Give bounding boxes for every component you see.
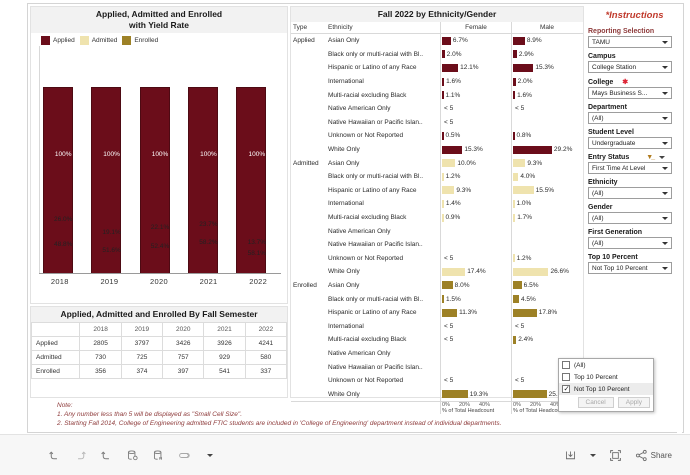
filter-label-text: Ethnicity [588, 179, 618, 186]
value-cell-female[interactable]: 1.4% [440, 197, 511, 211]
value-cell-female[interactable]: 2.0% [440, 48, 511, 62]
pause-auto-update-icon[interactable] [152, 449, 165, 462]
value-cell-male[interactable]: 15.3% [511, 61, 582, 75]
filter-label: Gender [588, 204, 683, 211]
row-type: Applied [291, 37, 326, 44]
label-applied: 100% [152, 151, 169, 158]
ethnicity-row[interactable]: Black only or multi-racial with Bl..1.5%… [291, 292, 583, 306]
value-label-female: 1.6% [446, 78, 461, 85]
value-cell-female[interactable]: 9.3% [440, 184, 511, 198]
ethnicity-row[interactable]: White Only19.3%25.2% [291, 387, 583, 401]
bar-group-2021[interactable]: 100%23.7%58.2% [184, 46, 232, 274]
value-cell-female [440, 360, 511, 374]
value-cell-male[interactable]: 4.5% [511, 292, 582, 306]
table-cell: 929 [204, 351, 245, 365]
value-bar-female [442, 186, 454, 194]
value-label-female: 2.0% [447, 51, 462, 58]
value-label-male: 1.0% [517, 200, 532, 207]
filter-label: Entry Status▼̲ [588, 154, 683, 161]
filter-label: Top 10 Percent [588, 254, 683, 261]
value-cell-female[interactable]: 11.3% [440, 306, 511, 320]
row-ethnicity: Native Hawaiian or Pacific Islan.. [326, 364, 440, 371]
chevron-down-icon [662, 192, 668, 195]
ethnicity-row[interactable]: International< 5< 5 [291, 319, 583, 333]
value-cell-female: < 5 [440, 374, 511, 388]
table-cell: 541 [204, 365, 245, 379]
chevron-down-icon [662, 117, 668, 120]
yield-rate-chart-panel: Applied, Admitted and Enrolled with Yiel… [30, 6, 288, 304]
instructions-link[interactable]: *Instructions [586, 6, 683, 23]
filter-select[interactable]: Mays Business S... [588, 87, 672, 99]
value-bar-female [442, 173, 444, 181]
filter-chevron-down-icon[interactable] [659, 156, 665, 159]
value-bar-male [513, 268, 548, 276]
fullscreen-icon[interactable] [609, 449, 622, 462]
ethnicity-row[interactable]: Unknown or Not Reported< 5< 5 [291, 374, 583, 388]
ethnicity-row[interactable]: AppliedAsian Only6.7%8.9% [291, 34, 583, 48]
filter-department: Department(All) [586, 104, 683, 124]
value-label-female: 1.1% [446, 92, 461, 99]
value-cell-male[interactable]: 1.0% [511, 197, 582, 211]
label-applied: 100% [249, 151, 266, 158]
filter-select[interactable]: Not Top 10 Percent [588, 262, 672, 274]
value-cell-male[interactable]: 29.2% [511, 143, 582, 157]
row-ethnicity: Native Hawaiian or Pacific Islan.. [326, 119, 440, 126]
value-label-male: 0.8% [517, 132, 532, 139]
col-header-male[interactable]: Male [511, 22, 582, 33]
ethnicity-row[interactable]: Multi-racial excluding Black1.1%1.6% [291, 88, 583, 102]
x-tick-2021: 2021 [184, 274, 234, 286]
row-ethnicity: Native Hawaiian or Pacific Islan.. [326, 241, 440, 248]
row-ethnicity: Asian Only [326, 37, 440, 44]
row-ethnicity: Hispanic or Latino of any Race [326, 309, 440, 316]
table-cell: 3426 [163, 337, 204, 351]
col-header-ethnicity[interactable]: Ethnicity [326, 22, 440, 33]
value-label-female: 17.4% [467, 268, 485, 275]
label-enrolled: 58.1% [248, 250, 266, 257]
ethnicity-row[interactable]: Native American Only [291, 224, 583, 238]
value-cell-male[interactable]: 2.9% [511, 48, 582, 62]
value-bar-female [442, 132, 444, 140]
value-cell-female[interactable]: 1.2% [440, 170, 511, 184]
ethnicity-row[interactable]: Black only or multi-racial with Bl..1.2%… [291, 170, 583, 184]
value-label-female: 19.3% [470, 391, 488, 398]
legend-item-applied[interactable]: Applied [41, 36, 75, 45]
value-bar-male [513, 91, 515, 99]
chevron-down-icon [662, 242, 668, 245]
value-label-male: 26.6% [550, 268, 568, 275]
row-ethnicity: Multi-racial excluding Black [326, 336, 440, 343]
ethnicity-gender-panel: Fall 2022 by Ethnicity/Gender Type Ethni… [290, 6, 584, 398]
value-cell-male[interactable]: 6.5% [511, 279, 582, 293]
value-cell-male[interactable]: 2.4% [511, 333, 582, 347]
filter-label-text: Campus [588, 53, 616, 60]
table-cell: 356 [80, 365, 121, 379]
row-ethnicity: Black only or multi-racial with Bl.. [326, 51, 440, 58]
value-bar-female [442, 146, 462, 154]
ethnicity-row[interactable]: Unknown or Not Reported< 51.2% [291, 252, 583, 266]
filter-select[interactable]: (All) [588, 112, 672, 124]
row-ethnicity: Black only or multi-racial with Bl.. [326, 296, 440, 303]
legend-label-applied: Applied [53, 37, 75, 44]
value-cell-male [511, 238, 582, 252]
filter-top-10-percent: Top 10 PercentNot Top 10 Percent [586, 254, 683, 274]
legend-label-enrolled: Enrolled [134, 37, 158, 44]
checkbox-icon[interactable] [562, 373, 570, 381]
row-ethnicity: Black only or multi-racial with Bl.. [326, 173, 440, 180]
legend-item-admitted[interactable]: Admitted [80, 36, 118, 45]
value-bar-male [513, 281, 522, 289]
value-bar-male [513, 64, 533, 72]
value-cell-female[interactable]: 1.6% [440, 75, 511, 89]
value-bar-male [513, 214, 515, 222]
filter-select[interactable]: Undergraduate [588, 137, 672, 149]
value-label-female: 1.2% [446, 173, 461, 180]
dashboard-app: Applied, Admitted and Enrolled with Yiel… [0, 0, 690, 475]
value-cell-female[interactable]: 10.0% [440, 156, 511, 170]
filter-select[interactable]: (All) [588, 212, 672, 224]
bar-group-2018[interactable]: 100%26.0%48.8% [39, 46, 87, 274]
value-cell-male[interactable]: 0.8% [511, 129, 582, 143]
col-header-type[interactable]: Type [291, 22, 326, 33]
table-row[interactable]: Enrolled356374397541337 [32, 365, 287, 379]
value-label-male: 15.5% [536, 187, 554, 194]
value-bar-female [442, 214, 444, 222]
value-cell-female: < 5 [440, 319, 511, 333]
value-label-female: 12.1% [460, 64, 478, 71]
value-label-female: 8.0% [455, 282, 470, 289]
value-label-female: 9.3% [456, 187, 471, 194]
value-cell-male[interactable]: 15.5% [511, 184, 582, 198]
dropdown-option-label: Not Top 10 Percent [574, 386, 630, 393]
value-label-female: 6.7% [453, 37, 468, 44]
ethnicity-row[interactable]: Native American Only [291, 347, 583, 361]
value-bar-female [442, 295, 444, 303]
filter-list: Reporting SelectionTAMUCampusCollege Sta… [586, 28, 683, 274]
filter-label: Campus [588, 53, 683, 60]
value-cell-female[interactable]: 15.3% [440, 143, 511, 157]
value-cell-male[interactable]: 9.3% [511, 156, 582, 170]
x-tick-2022: 2022 [233, 274, 283, 286]
value-label-female: 0.5% [446, 132, 461, 139]
row-ethnicity: Asian Only [326, 160, 440, 167]
filter-gender: Gender(All) [586, 204, 683, 224]
toolbar-right-group: Share [564, 449, 690, 462]
value-label-male: 1.7% [517, 214, 532, 221]
row-ethnicity: White Only [326, 268, 440, 275]
ethnicity-row[interactable]: White Only15.3%29.2% [291, 143, 583, 157]
value-bar-male [513, 132, 515, 140]
filter-value: College Station [592, 64, 636, 71]
x-tick-2018: 2018 [35, 274, 85, 286]
value-bar-female [442, 64, 458, 72]
ethnicity-row[interactable]: International1.6%2.0% [291, 75, 583, 89]
value-cell-male[interactable]: 8.9% [511, 34, 582, 48]
ethnicity-row[interactable]: White Only17.4%26.6% [291, 265, 583, 279]
filter-select[interactable]: TAMU [588, 36, 672, 48]
value-bar-female [442, 200, 444, 208]
semester-col-2021: 2021 [204, 323, 245, 337]
label-admitted: 23.7% [199, 221, 217, 228]
top10-dropdown-popup[interactable]: (All)Top 10 PercentNot Top 10 Percent Ca… [558, 358, 654, 412]
value-bar-female [442, 268, 465, 276]
chevron-down-icon [662, 41, 668, 44]
vertical-scrollbar[interactable] [677, 4, 682, 437]
table-cell: 2805 [80, 337, 121, 351]
value-bar-male [513, 390, 547, 398]
filter-select[interactable]: (All) [588, 187, 672, 199]
value-cell-female[interactable]: 12.1% [440, 61, 511, 75]
ethnicity-row[interactable]: Native Hawaiian or Pacific Islan.. [291, 238, 583, 252]
value-cell-male[interactable]: 26.6% [511, 265, 582, 279]
value-label-female: 10.0% [457, 160, 475, 167]
row-type: Admitted [291, 160, 326, 167]
redo-icon[interactable] [74, 449, 87, 462]
toolbar-left-group [0, 449, 213, 462]
label-admitted: 13.7% [248, 239, 266, 246]
filter-label: Student Level [588, 129, 683, 136]
value-cell-female[interactable]: 1.5% [440, 292, 511, 306]
filter-label-text: Student Level [588, 129, 634, 136]
row-ethnicity: International [326, 78, 440, 85]
value-bar-female [442, 78, 444, 86]
semester-table-title: Applied, Admitted and Enrolled By Fall S… [31, 307, 287, 322]
revert-icon[interactable] [100, 449, 113, 462]
filter-entry-status: Entry Status▼̲First Time At Level [586, 154, 683, 174]
table-cell: 4241 [245, 337, 286, 351]
value-bar-female [442, 37, 451, 45]
filter-select[interactable]: College Station [588, 61, 672, 73]
value-label-female: 11.3% [459, 309, 477, 316]
filter-label: Reporting Selection [588, 28, 683, 35]
row-label-applied: Applied [32, 337, 80, 351]
bar-group-2019[interactable]: 100%19.1%51.6% [87, 46, 135, 274]
value-label-male: 2.9% [519, 51, 534, 58]
label-admitted: 22.1% [151, 224, 169, 231]
ethnicity-row[interactable]: Multi-racial excluding Black0.9%1.7% [291, 211, 583, 225]
ethnicity-row[interactable]: Hispanic or Latino of any Race9.3%15.5% [291, 184, 583, 198]
label-admitted: 26.0% [54, 216, 72, 223]
chevron-down-icon [662, 167, 668, 170]
view-original-chevron-down-icon[interactable] [207, 454, 213, 457]
value-label-male: 1.6% [517, 92, 532, 99]
filter-first-generation: First Generation(All) [586, 229, 683, 249]
view-original-icon[interactable] [178, 449, 194, 462]
download-chevron-down-icon[interactable] [590, 454, 596, 457]
dropdown-cancel-button[interactable]: Cancel [578, 397, 614, 408]
ethnicity-row[interactable]: Black only or multi-racial with Bl..2.0%… [291, 48, 583, 62]
row-ethnicity: Native American Only [326, 228, 440, 235]
value-label-male: 9.3% [527, 160, 542, 167]
value-cell-female[interactable]: 8.0% [440, 279, 511, 293]
value-cell-female[interactable]: 1.1% [440, 88, 511, 102]
label-enrolled: 52.4% [151, 243, 169, 250]
value-bar-male [513, 336, 516, 344]
value-label-female: 1.4% [446, 200, 461, 207]
legend-swatch-admitted [80, 36, 89, 45]
value-bar-male [513, 173, 518, 181]
filter-value: (All) [592, 240, 604, 247]
semester-col-2022: 2022 [245, 323, 286, 337]
filter-label: First Generation [588, 229, 683, 236]
filter-reporting-selection: Reporting SelectionTAMU [586, 28, 683, 48]
refresh-data-icon[interactable] [126, 449, 139, 462]
label-admitted: 19.1% [102, 229, 120, 236]
row-ethnicity: Unknown or Not Reported [326, 132, 440, 139]
value-cell-female[interactable]: 6.7% [440, 34, 511, 48]
row-ethnicity: Hispanic or Latino of any Race [326, 187, 440, 194]
bar-groups: 100%26.0%48.8%100%19.1%51.6%100%22.1%52.… [39, 46, 281, 274]
filter-campus: CampusCollege Station [586, 53, 683, 73]
ethnicity-row[interactable]: Native Hawaiian or Pacific Islan.. [291, 360, 583, 374]
table-cell: 397 [163, 365, 204, 379]
value-bar-male [513, 254, 515, 262]
value-bar-female [442, 309, 457, 317]
dropdown-options: (All)Top 10 PercentNot Top 10 Percent [559, 359, 653, 395]
value-cell-male [511, 224, 582, 238]
legend-item-enrolled[interactable]: Enrolled [122, 36, 158, 45]
row-ethnicity: Hispanic or Latino of any Race [326, 64, 440, 71]
value-cell-female[interactable]: 17.4% [440, 265, 511, 279]
table-cell: 725 [121, 351, 162, 365]
table-cell: 3926 [204, 337, 245, 351]
value-bar-male [513, 37, 525, 45]
value-cell-female: < 5 [440, 252, 511, 266]
value-cell-female [440, 224, 511, 238]
ethnicity-row[interactable]: Multi-racial excluding Black< 52.4% [291, 333, 583, 347]
filter-label-text: First Generation [588, 229, 642, 236]
filter-label-text: Reporting Selection [588, 28, 654, 35]
filter-student-level: Student LevelUndergraduate [586, 129, 683, 149]
ethnicity-row[interactable]: Unknown or Not Reported0.5%0.8% [291, 129, 583, 143]
filter-label-text: Gender [588, 204, 613, 211]
chevron-down-icon [662, 66, 668, 69]
table-cell: 3797 [121, 337, 162, 351]
filter-select[interactable]: First Time At Level [588, 162, 672, 174]
filter-ethnicity: Ethnicity(All) [586, 179, 683, 199]
label-applied: 100% [200, 151, 217, 158]
undo-icon[interactable] [48, 449, 61, 462]
value-label-male: 2.4% [518, 336, 533, 343]
value-label-male: 1.2% [517, 255, 532, 262]
value-bar-male [513, 200, 515, 208]
value-cell-female[interactable]: 19.3% [440, 387, 511, 401]
filter-label: College✱ [588, 78, 683, 86]
value-cell-male[interactable]: 4.0% [511, 170, 582, 184]
dropdown-option-label: (All) [574, 362, 586, 369]
value-cell-male[interactable]: 17.8% [511, 306, 582, 320]
ethnicity-row[interactable]: Native American Only< 5< 5 [291, 102, 583, 116]
table-row[interactable]: Admitted730725757929580 [32, 351, 287, 365]
label-applied: 100% [55, 151, 72, 158]
checkbox-icon[interactable] [562, 385, 570, 393]
legend-swatch-enrolled [122, 36, 131, 45]
checkbox-icon[interactable] [562, 361, 570, 369]
chart-legend: Applied Admitted Enrolled [31, 33, 287, 46]
chevron-down-icon [662, 142, 668, 145]
ethnicity-row[interactable]: Hispanic or Latino of any Race12.1%15.3% [291, 61, 583, 75]
filter-panel: *Instructions Reporting SelectionTAMUCam… [586, 6, 683, 398]
filter-value: First Time At Level [592, 165, 645, 172]
value-cell-male[interactable]: 1.2% [511, 252, 582, 266]
x-axis-ticks: 20182019202020212022 [35, 274, 283, 286]
dropdown-option[interactable]: (All) [559, 359, 653, 371]
filter-value: (All) [592, 115, 604, 122]
semester-table-panel: Applied, Admitted and Enrolled By Fall S… [30, 306, 288, 398]
value-label-male: 29.2% [554, 146, 572, 153]
semester-table: 20182019202020212022 Applied280537973426… [31, 322, 287, 379]
value-label-male: 6.5% [524, 282, 539, 289]
left-margin [0, 0, 27, 433]
value-label-female: 0.9% [446, 214, 461, 221]
yield-rate-plot: 100%26.0%48.8%100%19.1%51.6%100%22.1%52.… [35, 46, 283, 274]
dropdown-option[interactable]: Not Top 10 Percent [559, 383, 653, 395]
table-cell: 337 [245, 365, 286, 379]
value-bar-male [513, 309, 537, 317]
row-ethnicity: Native American Only [326, 105, 440, 112]
filter-label: Ethnicity [588, 179, 683, 186]
dropdown-option[interactable]: Top 10 Percent [559, 371, 653, 383]
value-cell-male[interactable]: 1.7% [511, 211, 582, 225]
value-label-male: 4.0% [520, 173, 535, 180]
filter-funnel-icon[interactable]: ▼̲ [646, 154, 653, 161]
value-bar-female [442, 50, 445, 58]
ethnicity-row[interactable]: Hispanic or Latino of any Race11.3%17.8% [291, 306, 583, 320]
share-icon[interactable]: Share [635, 449, 672, 462]
filter-value: Not Top 10 Percent [592, 265, 648, 272]
semester-table-corner [32, 323, 80, 337]
value-cell-male: < 5 [511, 102, 582, 116]
table-row[interactable]: Applied28053797342639264241 [32, 337, 287, 351]
row-label-admitted: Admitted [32, 351, 80, 365]
table-cell: 757 [163, 351, 204, 365]
ethnicity-panel-title: Fall 2022 by Ethnicity/Gender [291, 7, 583, 22]
value-bar-female [442, 281, 453, 289]
value-label-female: 15.3% [464, 146, 482, 153]
value-cell-female[interactable]: 0.9% [440, 211, 511, 225]
filter-select[interactable]: (All) [588, 237, 672, 249]
filter-value: TAMU [592, 39, 610, 46]
row-label-enrolled: Enrolled [32, 365, 80, 379]
col-header-female[interactable]: Female [440, 22, 511, 33]
label-enrolled: 51.6% [102, 247, 120, 254]
dropdown-apply-button[interactable]: Apply [618, 397, 650, 408]
bar-group-2020[interactable]: 100%22.1%52.4% [136, 46, 184, 274]
value-bar-male [513, 146, 552, 154]
value-cell-male[interactable]: 2.0% [511, 75, 582, 89]
ethnicity-row[interactable]: AdmittedAsian Only10.0%9.3% [291, 156, 583, 170]
row-ethnicity: Native American Only [326, 350, 440, 357]
row-ethnicity: White Only [326, 146, 440, 153]
row-ethnicity: Multi-racial excluding Black [326, 214, 440, 221]
value-cell-female [440, 347, 511, 361]
filter-label-text: Department [588, 104, 627, 111]
value-bar-male [513, 295, 519, 303]
filter-value: (All) [592, 190, 604, 197]
ethnicity-row[interactable]: EnrolledAsian Only8.0%6.5% [291, 279, 583, 293]
ethnicity-row[interactable]: International1.4%1.0% [291, 197, 583, 211]
share-label: Share [651, 451, 672, 460]
download-icon[interactable] [564, 449, 577, 462]
value-cell-male[interactable]: 1.6% [511, 88, 582, 102]
value-cell-female[interactable]: 0.5% [440, 129, 511, 143]
bar-group-2022[interactable]: 100%13.7%58.1% [233, 46, 281, 274]
ethnicity-header-row: Type Ethnicity Female Male [291, 22, 583, 34]
ethnicity-row[interactable]: Native Hawaiian or Pacific Islan..< 5 [291, 116, 583, 130]
value-bar-male [513, 159, 525, 167]
value-cell-male [511, 116, 582, 130]
value-cell-female: < 5 [440, 102, 511, 116]
